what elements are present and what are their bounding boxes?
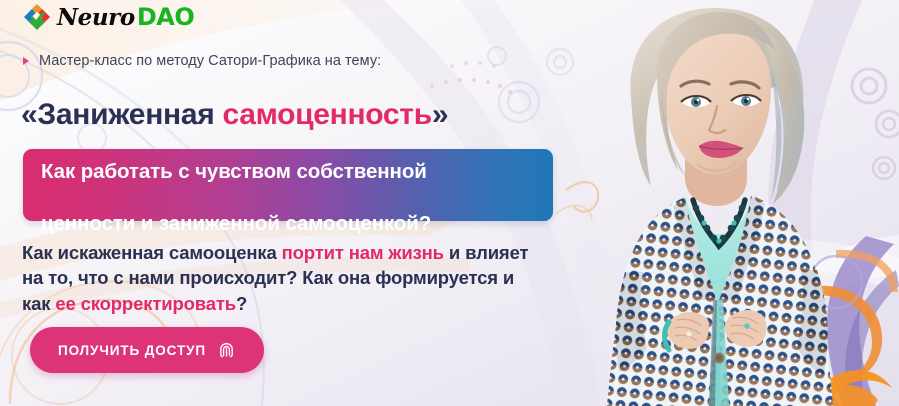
pinwheel-diamond-icon <box>22 2 52 32</box>
logo-word-neuro: Neuro <box>57 4 135 31</box>
question-banner: Как работать с чувством собственной ценн… <box>23 149 553 221</box>
body-paragraph: Как искаженная самооценка портит нам жиз… <box>22 240 542 316</box>
brand-logo[interactable]: NeuroDAO <box>22 2 194 32</box>
hero-banner: NeuroDAO Мастер-класс по методу Сатори-Г… <box>0 0 899 406</box>
get-access-button[interactable]: ПОЛУЧИТЬ ДОСТУП <box>30 327 264 373</box>
fingerprint-icon <box>217 341 236 360</box>
body-segment-3: ? <box>236 293 247 314</box>
body-accent-2: ее скорректировать <box>55 293 236 314</box>
question-banner-line2: ценности и заниженной самооценкой? <box>41 212 431 235</box>
page-title: «Заниженная самоценность» <box>21 97 448 132</box>
question-banner-line1: Как работать с чувством собственной <box>41 160 427 183</box>
headline-quote-close: » <box>432 98 448 131</box>
headline-dark-part: Заниженная <box>37 98 214 131</box>
logo-wordmark: NeuroDAO <box>57 5 194 29</box>
eyebrow-text: Мастер-класс по методу Сатори-Графика на… <box>39 53 381 69</box>
triangle-bullet-icon <box>23 57 29 65</box>
presenter-portrait <box>565 0 865 406</box>
eyebrow-line: Мастер-класс по методу Сатори-Графика на… <box>23 53 381 69</box>
body-accent-1: портит нам жизнь <box>282 242 444 263</box>
logo-word-dao: DAO <box>137 3 194 31</box>
body-segment-1: Как искаженная самооценка <box>22 242 282 263</box>
headline-quote-open: « <box>21 98 37 131</box>
headline-accent-part: самоценность <box>214 98 431 131</box>
question-banner-text: Как работать с чувством собственной ценн… <box>41 133 431 238</box>
get-access-button-label: ПОЛУЧИТЬ ДОСТУП <box>58 343 206 358</box>
